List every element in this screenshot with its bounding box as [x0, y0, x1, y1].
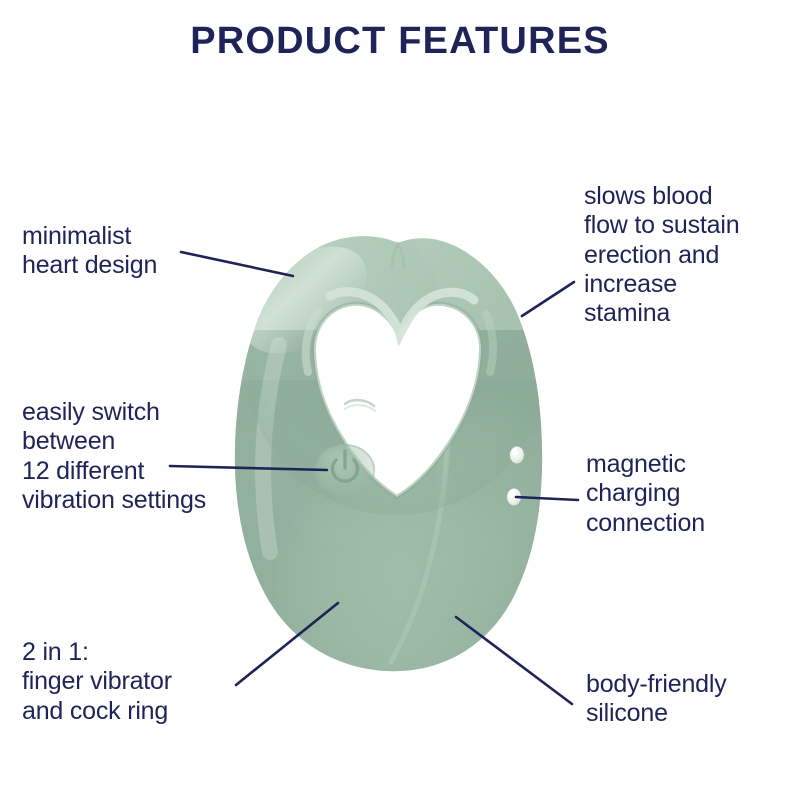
leader-line-body-friendly — [456, 617, 572, 704]
callout-body-friendly-silicone: body-friendly silicone — [586, 670, 798, 729]
callout-magnetic-charging-connection: magnetic charging connection — [586, 450, 796, 538]
callout-easily-switch-vibration-settings: easily switch between 12 different vibra… — [22, 398, 282, 515]
leader-line-slows-blood — [522, 282, 574, 316]
callout-two-in-one: 2 in 1: finger vibrator and cock ring — [22, 638, 292, 726]
callout-minimalist-heart-design: minimalist heart design — [22, 222, 262, 281]
charging-pin-top — [510, 446, 525, 464]
product-features-infographic: PRODUCT FEATURES — [0, 0, 800, 800]
callout-slows-blood-flow: slows blood flow to sustain erection and… — [584, 182, 799, 328]
